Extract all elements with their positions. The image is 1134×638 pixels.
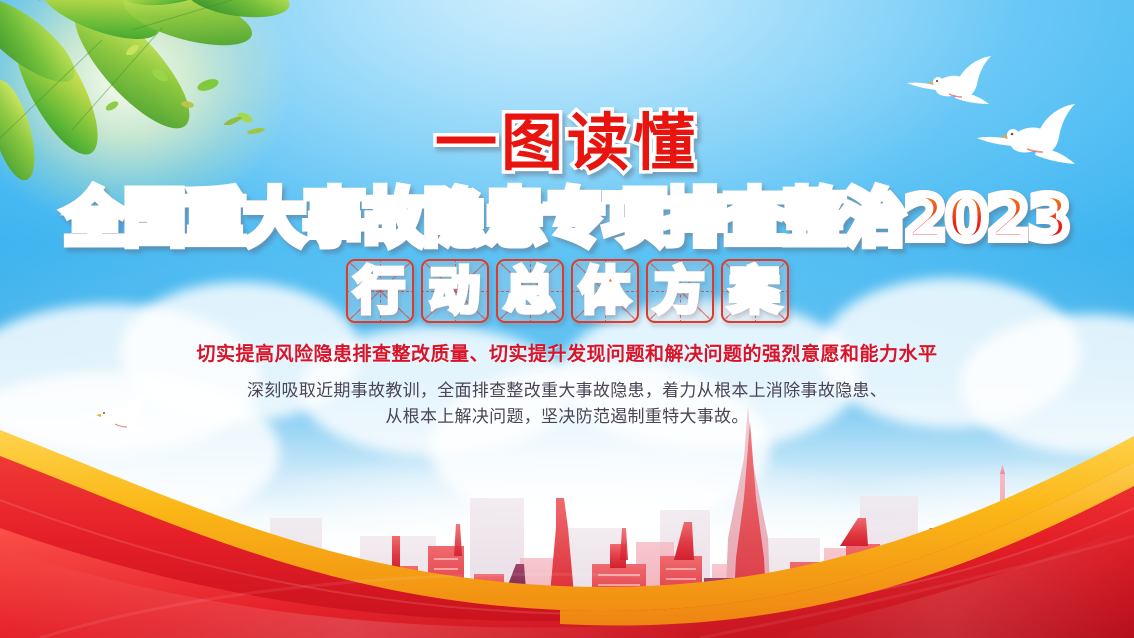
page-title-line-3: 行 动 总 体 方 案 <box>0 259 1134 323</box>
grid-char-box: 行 <box>346 259 414 323</box>
grid-char-box: 案 <box>721 259 789 323</box>
grid-char-text: 总 <box>505 266 555 316</box>
grid-char-text: 案 <box>730 266 780 316</box>
poster-content: 一图读懂 全国重大事故隐患专项排查整治2023 行 动 总 体 方 案 切实提高… <box>0 0 1134 430</box>
grid-char-text: 行 <box>355 266 405 316</box>
grid-char-box: 总 <box>496 259 564 323</box>
poster-body: 深刻吸取近期事故教训，全面排查整改重大事故隐患，着力从根本上消除事故隐患、 从根… <box>237 378 897 430</box>
grid-char-text: 方 <box>655 266 705 316</box>
red-ribbon <box>0 408 1134 638</box>
page-title-line-1: 一图读懂 <box>0 112 1134 174</box>
grid-char-text: 体 <box>580 266 630 316</box>
poster-canvas: 一图读懂 全国重大事故隐患专项排查整治2023 行 动 总 体 方 案 切实提高… <box>0 0 1134 638</box>
poster-subtitle: 切实提高风险隐患排查整改质量、切实提升发现问题和解决问题的强烈意愿和能力水平 <box>0 339 1134 366</box>
page-title-line-2: 全国重大事故隐患专项排查整治2023 <box>0 188 1134 249</box>
body-line-2: 从根本上解决问题，坚决防范遏制重特大事故。 <box>237 404 897 430</box>
grid-char-box: 方 <box>646 259 714 323</box>
grid-char-box: 体 <box>571 259 639 323</box>
body-line-1: 深刻吸取近期事故教训，全面排查整改重大事故隐患，着力从根本上消除事故隐患、 <box>237 378 897 404</box>
grid-char-text: 动 <box>430 266 480 316</box>
grid-char-box: 动 <box>421 259 489 323</box>
